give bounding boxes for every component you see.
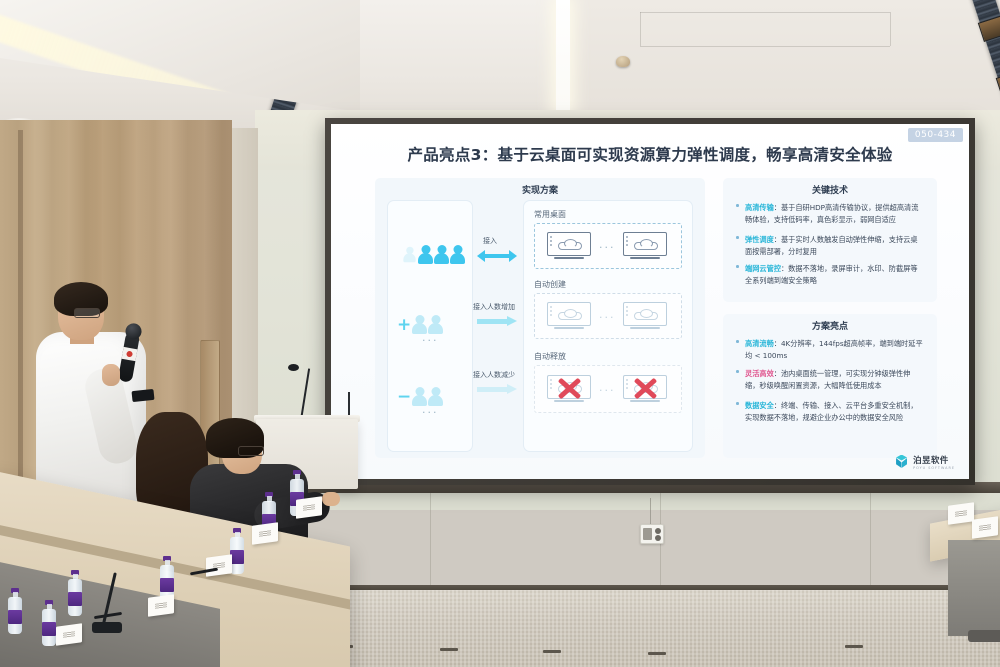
ellipsis: ···	[422, 406, 439, 419]
ceiling-light-strip	[556, 0, 570, 112]
highlight-term-2: 灵活高效	[745, 369, 774, 378]
outlet-plate	[643, 528, 652, 540]
desktop-monitor-icon	[547, 232, 591, 259]
name-card	[206, 554, 232, 577]
person-icon	[418, 245, 433, 264]
person-icon	[428, 387, 443, 406]
solution-highlights-header: 方案亮点	[723, 319, 937, 332]
key-tech-bullet-3: 端网云管控：数据不落地，录屏审计，水印、防截屏等全系列端到端安全策略	[745, 263, 923, 286]
person-icon	[428, 315, 443, 334]
name-card	[252, 522, 278, 545]
side-table-leg	[968, 630, 1000, 642]
desktop-monitor-icon	[547, 302, 591, 329]
floor-vent	[440, 648, 458, 651]
implementation-plan-header: 实现方案	[375, 183, 705, 196]
projection-screen-frame: 050-434 产品亮点3：基于云桌面可实现资源算力弹性调度，畅享高清安全体验 …	[325, 118, 975, 485]
name-card	[56, 623, 82, 646]
desktop-pool-box: 常用桌面 ··· 自动创建	[523, 200, 693, 452]
water-bottle	[8, 588, 22, 634]
microphone-head	[124, 322, 143, 341]
presentation-slide: 050-434 产品亮点3：基于云桌面可实现资源算力弹性调度，畅享高清安全体验 …	[331, 124, 969, 479]
desk-microphone-base	[92, 622, 122, 633]
man-hand	[322, 492, 340, 506]
pool-section-label-autocreate: 自动创建	[534, 279, 566, 290]
highlight-bullet-2: 灵活高效：池内桌面统一管理，可实现分钟级弹性伸缩，秒级唤醒闲置资源，大幅降低使用…	[745, 368, 923, 391]
arrow-label-decrease: 接入人数减少	[473, 370, 515, 380]
water-bottle	[68, 570, 82, 616]
screenshot-root: 050-434 产品亮点3：基于云桌面可实现资源算力弹性调度，畅享高清安全体验 …	[0, 0, 1000, 667]
single-arrow-decrease-icon	[477, 384, 517, 395]
highlight-term-1: 高清流畅	[745, 339, 774, 348]
user-group-increase-icon	[412, 315, 443, 334]
user-group-icon	[402, 245, 465, 264]
podium-microphone-head	[288, 364, 299, 371]
floor-vent	[648, 652, 666, 655]
highlight-bullet-1: 高清流畅：4K分辨率，144fps超高帧率，端到端时延平均 < 100ms	[745, 338, 923, 361]
key-technology-card: 关键技术 高清传输：基于自研HDP高清传输协议，提供超高清流畅体验，支持低码率，…	[723, 178, 937, 302]
user-group-decrease-icon	[412, 387, 443, 406]
single-arrow-increase-icon	[477, 316, 517, 327]
key-tech-bullet-2: 弹性调度：基于实时人数触发自动弹性伸缩，支持云桌面按需部署，分时复用	[745, 234, 923, 257]
name-card	[948, 502, 974, 525]
person-icon	[434, 245, 449, 264]
name-card	[296, 496, 322, 519]
ellipsis: ···	[599, 311, 616, 324]
person-icon	[412, 315, 427, 334]
key-tech-term-1: 高清传输	[745, 203, 774, 212]
eyeglasses-icon	[74, 308, 100, 318]
highlight-term-3: 数据安全	[745, 401, 774, 410]
slide-title: 产品亮点3：基于云桌面可实现资源算力弹性调度，畅享高清安全体验	[331, 143, 969, 165]
name-card	[972, 516, 998, 539]
person-icon	[412, 387, 427, 406]
desktop-monitor-released-icon	[547, 375, 591, 402]
auto-release-group: ···	[534, 365, 682, 413]
logo-name: 泊昱软件	[913, 454, 955, 466]
outlet-wire	[650, 498, 651, 524]
arrow-label-access: 接入	[483, 236, 497, 246]
ceiling-seam	[640, 12, 641, 46]
name-card	[148, 594, 174, 617]
company-logo: 泊昱软件 POYU SOFTWARE	[894, 454, 955, 470]
wall-seam	[430, 493, 431, 585]
logo-subtitle: POYU SOFTWARE	[913, 466, 955, 470]
desktop-monitor-icon	[623, 232, 667, 259]
smoke-detector-icon	[616, 56, 630, 67]
auto-create-group: ···	[534, 293, 682, 339]
microphone-flag-logo	[122, 347, 138, 361]
person-icon	[450, 245, 465, 264]
user-group-box: + ··· − ···	[387, 200, 473, 452]
eyeglasses-icon	[238, 446, 264, 456]
plus-sign: +	[397, 317, 411, 334]
double-arrow-icon	[477, 250, 517, 262]
ceiling-seam	[640, 46, 890, 47]
handheld-device	[131, 389, 154, 402]
minus-sign: −	[397, 389, 411, 406]
highlight-bullet-3: 数据安全：终端、传输、接入、云平台多重安全机制，实现数据不落地，规避企业办公中的…	[745, 400, 923, 423]
key-tech-term-3: 端网云管控	[745, 264, 781, 273]
floor-vent	[543, 650, 561, 653]
person-icon	[403, 247, 415, 263]
desktop-monitor-icon	[623, 302, 667, 329]
wall-seam	[870, 493, 871, 585]
x-mark-icon	[556, 378, 583, 397]
water-bottle	[42, 600, 56, 646]
ellipsis: ···	[422, 334, 439, 347]
ellipsis: ···	[599, 384, 616, 397]
desktop-monitor-released-icon	[623, 375, 667, 402]
wall-outlet	[640, 524, 664, 544]
ellipsis: ···	[599, 241, 616, 254]
projection-screen[interactable]: 050-434 产品亮点3：基于云桌面可实现资源算力弹性调度，畅享高清安全体验 …	[331, 124, 969, 479]
pool-section-label-autorelease: 自动释放	[534, 351, 566, 362]
key-technology-header: 关键技术	[723, 183, 937, 196]
common-desktops-group: ···	[534, 223, 682, 269]
outlet-socket-icon	[655, 535, 661, 541]
conference-room: 050-434 产品亮点3：基于云桌面可实现资源算力弹性调度，畅享高清安全体验 …	[0, 0, 1000, 667]
floor-vent	[845, 645, 863, 648]
water-bottle	[230, 528, 244, 574]
slide-badge: 050-434	[908, 128, 963, 142]
side-table-panel	[948, 540, 1000, 636]
key-tech-term-2: 弹性调度	[745, 235, 774, 244]
x-mark-icon	[632, 378, 659, 397]
ceiling-seam	[890, 12, 891, 46]
outlet-socket-icon	[655, 528, 661, 534]
presenter-hand	[102, 364, 120, 386]
arrow-label-increase: 接入人数增加	[473, 302, 515, 312]
ceiling-seam	[640, 12, 890, 13]
pool-section-label-common: 常用桌面	[534, 209, 566, 220]
key-tech-bullet-1: 高清传输：基于自研HDP高清传输协议，提供超高清流畅体验，支持低码率，真色彩显示…	[745, 202, 923, 225]
cube-logo-icon	[894, 455, 909, 470]
solution-highlights-card: 方案亮点 高清流畅：4K分辨率，144fps超高帧率，端到端时延平均 < 100…	[723, 314, 937, 458]
